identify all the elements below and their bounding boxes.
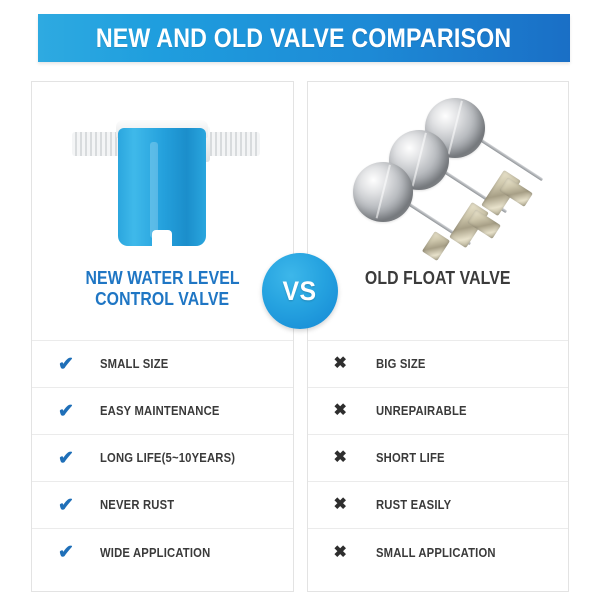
cross-icon: ✖ — [334, 545, 376, 561]
valve-thread-right — [202, 132, 260, 156]
page-title: NEW AND OLD VALVE COMPARISON — [96, 23, 511, 54]
list-item: ✖ SMALL APPLICATION — [308, 529, 569, 576]
new-valve-card: NEW WATER LEVEL CONTROL VALVE ✔ SMALL SI… — [31, 81, 294, 592]
feature-label: SHORT LIFE — [376, 451, 445, 465]
feature-label: WIDE APPLICATION — [100, 546, 210, 560]
list-item: ✔ SMALL SIZE — [32, 341, 293, 388]
check-icon: ✔ — [58, 449, 100, 468]
old-valve-name: OLD FLOAT VALVE — [365, 268, 511, 288]
feature-label: SMALL APPLICATION — [376, 546, 496, 560]
valve-thread-left — [72, 132, 122, 156]
new-valve-image-area — [32, 82, 293, 262]
vs-badge: VS — [262, 253, 338, 329]
cross-icon: ✖ — [334, 497, 376, 513]
cross-icon: ✖ — [334, 356, 376, 372]
cross-icon: ✖ — [334, 403, 376, 419]
feature-label: RUST EASILY — [376, 498, 451, 512]
list-item: ✔ LONG LIFE(5~10YEARS) — [32, 435, 293, 482]
list-item: ✖ BIG SIZE — [308, 341, 569, 388]
list-item: ✖ SHORT LIFE — [308, 435, 569, 482]
float-ball-valve-icon — [333, 92, 543, 252]
feature-label: NEVER RUST — [100, 498, 174, 512]
brass-fitting — [422, 231, 450, 261]
feature-label: UNREPAIRABLE — [376, 404, 467, 418]
header-banner: NEW AND OLD VALVE COMPARISON — [38, 14, 570, 62]
old-valve-image-area — [308, 82, 569, 262]
check-icon: ✔ — [58, 402, 100, 421]
old-valve-feature-list: ✖ BIG SIZE ✖ UNREPAIRABLE ✖ SHORT LIFE ✖… — [308, 340, 569, 576]
feature-label: BIG SIZE — [376, 357, 426, 371]
old-valve-caption: OLD FLOAT VALVE — [308, 262, 569, 322]
list-item: ✔ EASY MAINTENANCE — [32, 388, 293, 435]
old-valve-card: OLD FLOAT VALVE ✖ BIG SIZE ✖ UNREPAIRABL… — [307, 81, 570, 592]
check-icon: ✔ — [58, 355, 100, 374]
check-icon: ✔ — [58, 496, 100, 515]
new-valve-name-line2: CONTROL VALVE — [95, 289, 229, 309]
check-icon: ✔ — [58, 543, 100, 562]
vs-label: VS — [283, 276, 317, 307]
float-ball — [353, 162, 413, 222]
list-item: ✖ UNREPAIRABLE — [308, 388, 569, 435]
new-valve-caption: NEW WATER LEVEL CONTROL VALVE — [32, 262, 293, 322]
feature-label: SMALL SIZE — [100, 357, 168, 371]
comparison-cards: NEW WATER LEVEL CONTROL VALVE ✔ SMALL SI… — [31, 81, 569, 592]
water-level-control-valve-icon — [62, 92, 262, 252]
list-item: ✔ NEVER RUST — [32, 482, 293, 529]
new-valve-feature-list: ✔ SMALL SIZE ✔ EASY MAINTENANCE ✔ LONG L… — [32, 340, 293, 576]
new-valve-name-line1: NEW WATER LEVEL — [85, 268, 239, 288]
valve-body — [118, 128, 206, 246]
feature-label: LONG LIFE(5~10YEARS) — [100, 451, 235, 465]
feature-label: EASY MAINTENANCE — [100, 404, 220, 418]
list-item: ✖ RUST EASILY — [308, 482, 569, 529]
cross-icon: ✖ — [334, 450, 376, 466]
comparison-infographic: NEW AND OLD VALVE COMPARISON NEW WATER L… — [0, 0, 600, 600]
list-item: ✔ WIDE APPLICATION — [32, 529, 293, 576]
valve-highlight — [150, 142, 158, 238]
